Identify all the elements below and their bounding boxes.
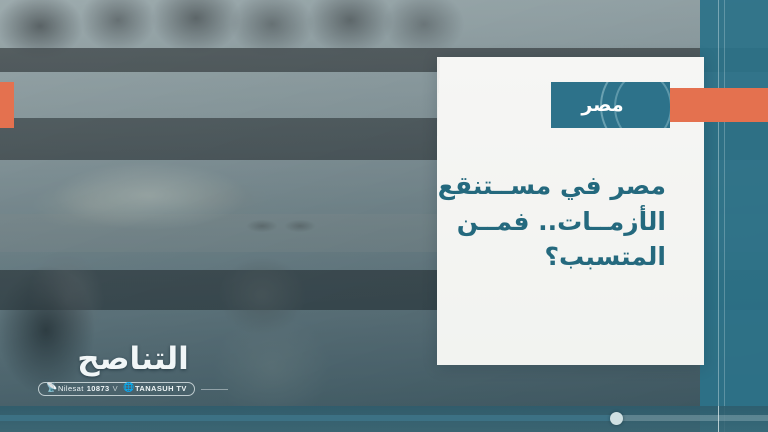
website-label: TANASUH TV: [135, 384, 187, 393]
channel-info-strip: 📡 Nilesat 10873 V 🌐 TANASUH TV: [38, 382, 228, 396]
teal-column-guide-lines: [700, 0, 768, 432]
website-info: 🌐 TANASUH TV: [123, 384, 187, 393]
satellite-info: 📡 Nilesat 10873 V: [46, 384, 118, 393]
left-orange-accent-bar: [0, 82, 14, 128]
headline-line-1: مصر في مســتنقع: [452, 168, 666, 204]
category-badge[interactable]: مصر: [551, 82, 670, 128]
progress-handle[interactable]: [610, 412, 623, 425]
satellite-dish-icon: 📡: [46, 384, 55, 393]
player-bar[interactable]: [0, 406, 768, 432]
broadcast-frame: مصر مصر في مســتنقع الأزمــات.. فمــن ال…: [0, 0, 768, 432]
channel-info-pill: 📡 Nilesat 10873 V 🌐 TANASUH TV: [38, 382, 195, 396]
satellite-polarization: V: [113, 384, 118, 393]
logo-divider-rule: [201, 389, 228, 390]
satellite-frequency: 10873: [87, 384, 110, 393]
progress-fill: [0, 415, 617, 421]
category-badge-label: مصر: [581, 94, 623, 116]
channel-wordmark: التناصح: [38, 344, 228, 375]
player-chapter-marker: [718, 406, 719, 432]
satellite-name: Nilesat: [58, 384, 84, 393]
badge-orange-accent-bar: [670, 88, 768, 122]
channel-logo: التناصح 📡 Nilesat 10873 V 🌐 TANASUH TV: [38, 344, 228, 396]
globe-icon: 🌐: [123, 384, 132, 393]
headline-line-3: المتسبب؟: [452, 239, 666, 275]
headline: مصر في مســتنقع الأزمــات.. فمــن المتسب…: [452, 168, 666, 275]
headline-line-2: الأزمــات.. فمــن: [452, 204, 666, 240]
